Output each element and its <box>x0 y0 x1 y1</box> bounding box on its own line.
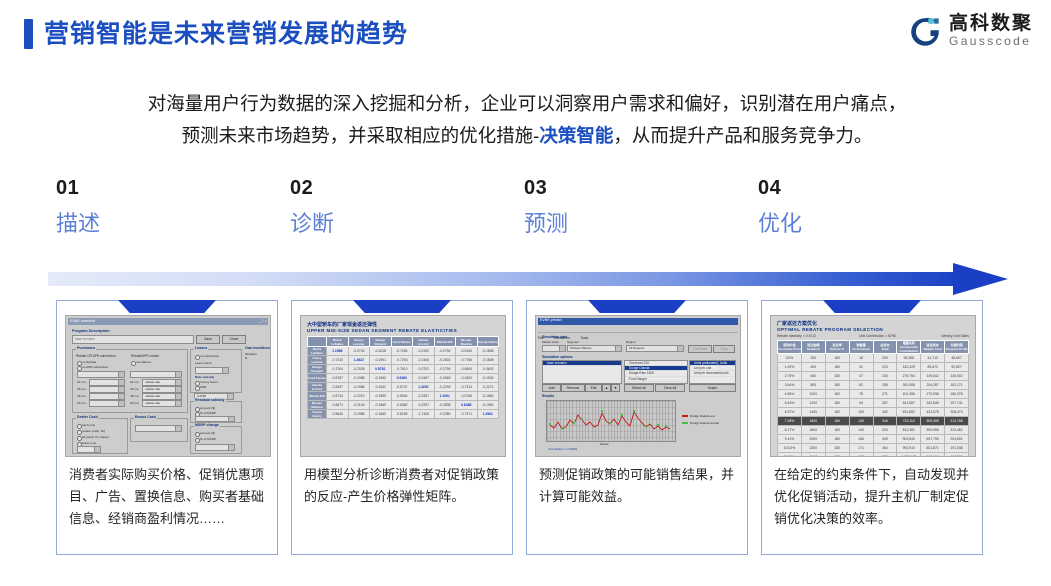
purchases-group: Purchases Rebate OR APR subvention Rebat… <box>72 349 188 413</box>
optimization-matrix: 实际价格Customer Price返还金额Rebate $返还率Rebate … <box>777 340 969 457</box>
bonus-cash-group: Bonus Cash <box>130 418 188 442</box>
elasticity-cell: -0.6744 <box>327 392 349 401</box>
elasticity-cell: -0.7293 <box>391 356 413 365</box>
scenario-list-item[interactable]: base scenario <box>543 361 621 366</box>
optimization-col-header: 增量毛利IncrementalContribution <box>897 341 921 354</box>
elasticity-cell: -0.7371 <box>456 410 478 419</box>
step-label: 描述 <box>56 209 100 239</box>
optimization-cell: 180 <box>825 354 849 363</box>
radio-apr-label: APR <box>200 385 206 389</box>
scenario-list[interactable]: base scenario <box>542 360 622 384</box>
term-36-input[interactable] <box>89 386 125 393</box>
step-01: 01 描述 <box>56 176 100 239</box>
optimization-cell: 1.00% <box>778 363 802 372</box>
elasticity-cell: -0.1960 <box>370 374 392 383</box>
optimization-cell: 2000 <box>801 435 825 444</box>
step-label: 预测 <box>524 209 568 239</box>
screenshot-incentive-dialog: EVBR incentive _ □ × Program Description… <box>65 315 271 457</box>
elasticity-row-header: Buick LeSabre <box>308 347 327 356</box>
optimization-sub-right: Weekly Unit Sales <box>942 334 969 338</box>
elasticity-cell: -0.7254 <box>391 347 413 356</box>
optimization-cell: 599,906 <box>921 426 945 435</box>
table-row: 2.75%60018047240275,754149,842126,502 <box>778 372 969 381</box>
elasticity-cell: -0.5747 <box>391 383 413 392</box>
table-row: 0.0%2001801820995,26841,71048,607 <box>778 354 969 363</box>
close-button[interactable]: Close <box>222 335 246 344</box>
optimization-cell: 109 <box>849 408 873 417</box>
segment-label: Segment <box>567 340 579 344</box>
correlation-footnote: (Correlation = 0.9030) <box>548 447 577 451</box>
elasticity-cell: -0.2602 <box>434 356 456 365</box>
optimization-cell: 212,462 <box>945 426 969 435</box>
elasticity-cell: -0.1896 <box>477 347 499 356</box>
elasticity-cell: -0.0602 <box>477 365 499 374</box>
legend-swatch-red <box>682 415 688 417</box>
elasticity-cell: -0.2380 <box>434 410 456 419</box>
optimization-cell: 8.17% <box>778 426 802 435</box>
term-48-label-right: 48 mo. <box>130 394 139 398</box>
screenshot-simulation-window: EVBR predict File Simulation Tools Simul… <box>535 315 741 457</box>
lease-cash-label: Lease Cash <box>195 361 212 365</box>
table-row: Toyota Camry-0.5640-0.1988-0.1660-0.6189… <box>308 410 499 419</box>
radio-lease-only-label: lease only <box>82 441 96 445</box>
purchases-group-title: Purchases <box>76 346 96 350</box>
screenshot-elasticity-table: 大中型轿车的厂家现金返还弹性 UPPER MID-SIZE SEDAN SEGM… <box>300 315 506 457</box>
brand-logo: 高科数聚 Gausscode <box>908 14 1033 49</box>
program-description-value: base scenario <box>75 337 95 341</box>
term-24-input[interactable] <box>89 379 125 386</box>
optimization-cell: 10.93% <box>778 453 802 458</box>
table-row: 9.11%2000180156349902,640697,795204,801 <box>778 435 969 444</box>
optimization-title-cn: 厂家返还方案优化 <box>777 320 817 327</box>
elasticity-cell: -0.6766 <box>456 392 478 401</box>
step-02: 02 诊断 <box>290 176 334 239</box>
edit-button[interactable]: Edit <box>585 384 602 392</box>
window-titlebar: EVBR incentive _ □ × <box>68 318 268 325</box>
radio-not-offered-label: not offered <box>136 360 151 364</box>
table-row: Ford Taurus-0.6787-0.2088-0.19600.9480-0… <box>308 374 499 383</box>
results-label: Results <box>542 394 554 398</box>
elasticity-cell: -0.1660 <box>370 410 392 419</box>
elasticity-cell: -0.1642 <box>370 383 392 392</box>
optimization-cell: 208,473 <box>945 408 969 417</box>
radio-msrp-pct-label: % of MSRP <box>200 437 216 441</box>
optimization-cell: 182,329 <box>897 363 921 372</box>
card-optimize[interactable]: 厂家返还方案优化 OPTIMAL REBATE PROGRAM SELECTIO… <box>761 300 983 555</box>
model-list-item[interactable]: Ford Ranger <box>625 377 687 382</box>
elasticity-matrix: Buick LeSabreChevy LuminaDodge IntrepidF… <box>307 336 499 419</box>
optimization-cell: 200 <box>801 354 825 363</box>
optimization-cell: 1400 <box>801 408 825 417</box>
step-04: 04 优化 <box>758 176 802 239</box>
add-button[interactable]: Add <box>542 384 561 392</box>
card-describe[interactable]: EVBR incentive _ □ × Program Description… <box>56 300 278 555</box>
optimization-cell: 333 <box>873 426 897 435</box>
move-down-button[interactable]: ▼ <box>611 384 620 392</box>
legend-label-actual: Dodge Dakota actual <box>690 421 719 425</box>
model-label: Model(s) <box>245 352 257 356</box>
rebate-select[interactable] <box>77 371 125 378</box>
segment-select[interactable]: Pickups Midsize <box>567 345 622 352</box>
table-row: 10.02%2200180171364992,910801,871191,038 <box>778 444 969 453</box>
optimization-cell: 89,672 <box>921 363 945 372</box>
screenshot-optimization-table: 厂家返还方案优化 OPTIMAL REBATE PROGRAM SELECTIO… <box>770 315 976 457</box>
radio-msrp-amount-label: amount ($) <box>200 431 215 435</box>
elasticity-cell: -0.1869 <box>370 401 392 410</box>
bonus-cash-select[interactable] <box>135 425 182 432</box>
elasticity-cell: -0.2192 <box>413 347 435 356</box>
intro-paragraph: 对海量用户行为数据的深入挖掘和分析，企业可以洞察用户需求和偏好，识别潜在用户痛点… <box>52 88 1002 152</box>
elasticity-col-header: Honda Accord <box>413 337 435 347</box>
region-select[interactable]: All Regions <box>626 345 684 352</box>
term-60-rate-value: market rate <box>145 401 160 405</box>
clear-all-button[interactable]: Clear All <box>655 384 685 392</box>
term-36-rate[interactable]: market rate <box>142 386 182 393</box>
table-row: 10.93%24001801873801,083,179912,104169,9… <box>778 453 969 458</box>
region-value: All Regions <box>629 346 644 350</box>
elasticity-cell: -0.2742 <box>348 347 370 356</box>
arrow-head <box>953 263 1008 295</box>
leases-title: Leases <box>194 346 208 350</box>
msrp-input[interactable] <box>195 444 235 451</box>
market-class-select[interactable] <box>542 345 566 352</box>
paragraph-line-2-pre: 预测未来市场趋势，并采取相应的优化措施- <box>182 125 540 146</box>
graph-button[interactable]: Graph <box>689 384 736 392</box>
paragraph-line-1: 对海量用户行为数据的深入挖掘和分析，企业可以洞察用户需求和偏好，识别潜在用户痛点… <box>148 93 907 114</box>
sim-menubar[interactable]: File Simulation Tools <box>538 326 738 333</box>
optimization-cell: 4.55% <box>778 390 802 399</box>
optimization-col-header: 返还成本Rebate Cost <box>921 341 945 354</box>
optimization-cell: 180 <box>825 417 849 426</box>
region-label: Region <box>626 340 636 344</box>
card-caption: 预测促销政策的可能销售结果，并计算可能效益。 <box>539 464 737 508</box>
elasticity-cell: -0.0690 <box>456 365 478 374</box>
paragraph-line-2-post: ，从而提升产品和服务竞争力。 <box>613 125 872 146</box>
term-48-rate-value: market rate <box>145 394 160 398</box>
elasticity-row-header: Nissan Maxima <box>308 401 327 410</box>
optimization-cell: 224 <box>873 363 897 372</box>
optimization-cell: 1800 <box>801 426 825 435</box>
term-48-label: 48 mo. <box>77 394 86 398</box>
term-24-label: 24 mo. <box>77 380 86 384</box>
optimization-cell: 800 <box>801 381 825 390</box>
elasticity-title-en: UPPER MID-SIZE SEDAN SEGMENT REBATE ELAS… <box>307 328 457 333</box>
table-row: 5.44%120018094287541,587342,846197,741 <box>778 399 969 408</box>
title-text: 营销智能是未来营销发展的趋势 <box>44 19 408 49</box>
stop-button[interactable]: Stop <box>713 345 735 353</box>
sim-titlebar: EVBR predict <box>538 318 738 325</box>
elasticity-cell: -0.0340 <box>456 347 478 356</box>
table-row: 1.00%40018031224182,32989,67292,807 <box>778 363 969 372</box>
legend-label-estimated: Dodge Dakota est <box>690 414 715 418</box>
optimization-cell: 1000 <box>801 390 825 399</box>
elasticity-col-header: Mazda 626 <box>434 337 456 347</box>
optimization-cell: 197,741 <box>945 399 969 408</box>
optimization-cell: 271 <box>873 390 897 399</box>
optimization-cell: 364 <box>873 444 897 453</box>
term-48-rate[interactable]: market rate <box>142 393 182 400</box>
term-24-rate-value: market rate <box>145 380 160 384</box>
optimization-sub-mid: Unit Contribution = $798 <box>859 334 896 338</box>
optimization-cell: 62 <box>849 381 873 390</box>
logo-text-cn: 高科数聚 <box>949 14 1033 34</box>
optimization-cell: 1,083,179 <box>897 453 921 458</box>
program-description-label: Program Description <box>72 329 110 333</box>
optimization-col-header: 返还率Rebate % <box>825 341 849 354</box>
elasticity-cell: -1.7426 <box>413 410 435 419</box>
elasticity-cell: -0.1895 <box>370 392 392 401</box>
msrp-change-group: MSRP change amount ($) % of MSRP <box>190 426 242 454</box>
elasticity-cell: -0.1982 <box>477 401 499 410</box>
optimization-cell: 423,578 <box>921 408 945 417</box>
table-row: Chevy Lumina-0.73101.2622-0.1991-0.7293-… <box>308 356 499 365</box>
segment-value: Pickups Midsize <box>570 346 592 350</box>
step-label-row: 01 描述 02 诊断 03 预测 04 优化 <box>0 176 1051 246</box>
optimization-cell: 204,287 <box>921 381 945 390</box>
table-row: 6.37%1400180109302631,852423,578208,473 <box>778 408 969 417</box>
optimization-cell: 209 <box>873 354 897 363</box>
table-row: 7.28%1600180125318722,110509,305212,768 <box>778 417 969 426</box>
table-row: Honda Accord-0.5497-0.1986-0.1642-0.5747… <box>308 383 499 392</box>
paragraph-highlight: 决策智能 <box>539 125 613 146</box>
optimization-cell: 509,305 <box>921 417 945 426</box>
window-controls[interactable]: _ □ × <box>259 319 267 323</box>
term-60-input[interactable] <box>89 400 125 407</box>
table-row: 3.64%80018062255351,508204,287152,171 <box>778 381 969 390</box>
optimization-sub-left: Rebate elasticity = 0.8712 <box>777 334 816 338</box>
optimization-cell: 2400 <box>801 453 825 458</box>
elasticity-cell: -0.6189 <box>391 410 413 419</box>
optimization-cell: 41,710 <box>921 354 945 363</box>
optimization-cell: 47 <box>849 372 873 381</box>
elasticity-cell: -0.2337 <box>413 392 435 401</box>
term-60-rate[interactable]: market rate <box>142 400 182 407</box>
optimization-cell: 204,801 <box>945 435 969 444</box>
elasticity-title-cn: 大中型轿车的厂家现金返还弹性 <box>307 321 377 328</box>
residual-input[interactable] <box>195 416 235 422</box>
arrow-shaft <box>48 272 963 286</box>
elasticity-col-header: Toyota Camry <box>477 337 499 347</box>
elasticity-cell: -0.1660 <box>477 392 499 401</box>
elasticity-cell: -0.1991 <box>370 356 392 365</box>
elasticity-cell: -0.2088 <box>348 374 370 383</box>
dealer-cash-select[interactable] <box>77 446 101 453</box>
own-incentives-title: Own incentives <box>245 346 270 350</box>
elasticity-cell: -0.7204 <box>327 365 349 374</box>
optimization-cell: 812,381 <box>897 426 921 435</box>
term-36-rate-value: market rate <box>145 387 160 391</box>
optimization-cell: 180 <box>825 381 849 390</box>
optimization-cell: 180 <box>825 408 849 417</box>
elasticity-cell: -0.6904 <box>391 392 413 401</box>
rebate-combo-label: Rebate/APR combo <box>131 354 159 358</box>
elasticity-cell: 0.9480 <box>391 374 413 383</box>
bonus-cash-title: Bonus Cash <box>134 415 157 419</box>
elasticity-cell: 1.2622 <box>348 356 370 365</box>
optimization-cell: 180,378 <box>945 390 969 399</box>
optimization-cell: 380 <box>873 453 897 458</box>
optimization-cell: 48,607 <box>945 354 969 363</box>
elasticity-cell: -0.2149 <box>348 401 370 410</box>
optimization-cell: 125 <box>849 417 873 426</box>
optimization-cell: 10.02% <box>778 444 802 453</box>
optimization-cell: 156 <box>849 435 873 444</box>
lease-cash-select[interactable] <box>195 367 229 374</box>
elasticity-cell: -0.1500 <box>456 374 478 383</box>
menu-tools[interactable]: Tools <box>580 336 588 340</box>
optimization-cell: 912,104 <box>921 453 945 458</box>
optimization-cell: 302 <box>873 408 897 417</box>
msrp-change-title: MSRP change <box>194 423 220 427</box>
optimization-cell: 401,355 <box>897 390 921 399</box>
optimization-cell: 902,640 <box>897 435 921 444</box>
elasticity-cell: -0.2794 <box>434 347 456 356</box>
optimization-cell: 180 <box>825 399 849 408</box>
elasticity-cell: 0.8752 <box>370 365 392 374</box>
legend-item-estimated: Dodge Dakota est <box>682 414 715 418</box>
term-60-label-right: 60 mo. <box>130 401 139 405</box>
table-row: Nissan Maxima-0.6671-0.2149-0.1869-0.636… <box>308 401 499 410</box>
elasticity-cell: -0.2293 <box>434 383 456 392</box>
step-number: 03 <box>524 176 568 200</box>
optimization-cell: 3.64% <box>778 381 802 390</box>
optimization-cell: 149,842 <box>921 372 945 381</box>
elasticity-row-header: Toyota Camry <box>308 410 327 419</box>
radio-cash-only-label: cash only <box>82 423 95 427</box>
optimization-col-header: 销售量Incremental <box>849 341 873 354</box>
elasticity-cell: -0.2018 <box>370 347 392 356</box>
optimization-cell: 191,038 <box>945 444 969 453</box>
elasticity-col-header: Nissan Maxima <box>456 337 478 347</box>
elasticity-cell: -0.1902 <box>477 374 499 383</box>
model-list[interactable] <box>245 357 247 359</box>
optimization-cell: 212,768 <box>945 417 969 426</box>
card-predict[interactable]: EVBR predict File Simulation Tools Simul… <box>526 300 748 555</box>
save-button[interactable]: Save <box>196 335 220 344</box>
card-tab <box>353 300 451 313</box>
card-row: EVBR incentive _ □ × Program Description… <box>0 300 1051 560</box>
elasticity-row-header: Dodge Intrepid <box>308 365 327 374</box>
elasticity-row-header: Honda Accord <box>308 383 327 392</box>
market-class-label: Market class <box>542 340 559 344</box>
card-diagnose[interactable]: 大中型轿车的厂家现金返还弹性 UPPER MID-SIZE SEDAN SEGM… <box>291 300 513 555</box>
elasticity-row-header: Ford Taurus <box>308 374 327 383</box>
table-row: 8.17%1800180140333812,381599,906212,462 <box>778 426 969 435</box>
optimization-cell: 1200 <box>801 399 825 408</box>
optimization-cell: 180 <box>825 363 849 372</box>
optimization-cell: 5.44% <box>778 399 802 408</box>
elasticity-cell: -0.6362 <box>391 401 413 410</box>
elasticity-cell: -0.6787 <box>327 374 349 383</box>
elasticity-cell: -0.2669 <box>434 374 456 383</box>
legend-item-actual: Dodge Dakota actual <box>682 421 719 425</box>
elasticity-cell: -0.2838 <box>434 401 456 410</box>
optimization-cell: 351,508 <box>897 381 921 390</box>
elasticity-cell: -0.7766 <box>456 356 478 365</box>
elasticity-cell: -0.7310 <box>327 356 349 365</box>
elasticity-cell: -0.1988 <box>348 410 370 419</box>
optimization-cell: 400 <box>801 363 825 372</box>
optimization-col-header: 方案利润Program Profit <box>945 341 969 354</box>
optimization-cell: 152,171 <box>945 381 969 390</box>
optimization-cell: 349 <box>873 435 897 444</box>
radio-money-factor-label: money factor <box>200 380 218 384</box>
optimization-cell: 126,502 <box>945 372 969 381</box>
elasticity-cell: -0.2028 <box>348 365 370 374</box>
legend-swatch-green <box>682 422 688 424</box>
optimization-cell: 275,754 <box>897 372 921 381</box>
optimization-cell: 92,807 <box>945 363 969 372</box>
select-all-button[interactable]: Select All <box>624 384 654 392</box>
card-tab <box>588 300 686 313</box>
output-select-list[interactable]: Units (estimated), Units (base scenario)… <box>689 360 736 384</box>
move-up-button[interactable]: ▲ <box>602 384 611 392</box>
elasticity-cell: -0.1808 <box>477 356 499 365</box>
optimization-cell: 140 <box>849 426 873 435</box>
optimization-cell: 600 <box>801 372 825 381</box>
card-caption: 消费者实际购买价格、促销优惠项目、广告、置换信息、购买者基础信息、经销商盈利情况… <box>69 464 267 530</box>
own-incentives-group <box>244 349 266 412</box>
optimization-cell: 801,871 <box>921 444 945 453</box>
optimization-cell: 31 <box>849 363 873 372</box>
logo-mark-icon <box>908 15 942 49</box>
elasticity-col-header: Ford Taurus <box>391 337 413 347</box>
optimization-cell: 180 <box>825 435 849 444</box>
model-select-list[interactable]: Chevrolet S10 Dodge Dakota Dodge Ram 150… <box>624 360 688 384</box>
optimization-cell: 187 <box>849 453 873 458</box>
term-48-input[interactable] <box>89 393 125 400</box>
elasticity-cell: 1.1091 <box>434 392 456 401</box>
term-24-rate[interactable]: market rate <box>142 379 182 386</box>
optimization-col-header: 实际价格Customer Price <box>778 341 802 354</box>
optimization-cell: 180 <box>825 426 849 435</box>
optimization-cell: 180 <box>825 372 849 381</box>
optimization-cell: 180 <box>825 390 849 399</box>
combo-select[interactable] <box>130 371 182 378</box>
get-data-button[interactable]: Get Data <box>688 345 712 353</box>
radio-no-rebate-label: no Rebate <box>82 360 96 364</box>
elasticity-cell: -0.7314 <box>456 383 478 392</box>
term-24-label-right: 24 mo. <box>130 380 139 384</box>
radio-all-label: all (cash, fin, lease) <box>82 435 109 439</box>
optimization-cell: 171 <box>849 444 873 453</box>
slide-header: 营销智能是未来营销发展的趋势 高科数聚 Gausscode <box>0 0 1051 72</box>
optimization-cell: 270,938 <box>921 390 945 399</box>
rebate-apr-sub-label: Rebate OR APR subvention <box>76 354 116 358</box>
elasticity-cell: -0.2257 <box>413 401 435 410</box>
elasticity-col-header: Dodge Intrepid <box>370 337 392 347</box>
sim-options-label: Simulation options <box>542 355 573 359</box>
remove-button[interactable]: Remove <box>561 384 585 392</box>
optimization-col-header: 返还金额Rebate $ <box>801 341 825 354</box>
elasticity-cell: -0.2210 <box>348 392 370 401</box>
output-list-item[interactable]: Unit per incremental unit <box>690 371 735 376</box>
step-label: 优化 <box>758 209 802 239</box>
term-36-label: 36 mo. <box>77 387 86 391</box>
optimization-cell: 180 <box>825 444 849 453</box>
radio-residual-amount-label: amount ($) <box>200 406 215 410</box>
dealer-cash-title: Dealer Cash <box>76 415 99 419</box>
elasticity-row-header: Mazda 626 <box>308 392 327 401</box>
program-description-input[interactable]: base scenario <box>72 335 194 344</box>
elasticity-cell: -0.2702 <box>413 365 435 374</box>
card-caption: 在给定的约束条件下，自动发现并优化促销活动，提升主机厂制定促销优化决策的效率。 <box>774 464 972 530</box>
step-03: 03 预测 <box>524 176 568 239</box>
optimization-cell: 169,900 <box>945 453 969 458</box>
optimization-cell: 697,795 <box>921 435 945 444</box>
elasticity-col-header: Buick LeSabre <box>327 337 349 347</box>
rate-subsidy-label: Rate subsidy <box>195 375 214 379</box>
